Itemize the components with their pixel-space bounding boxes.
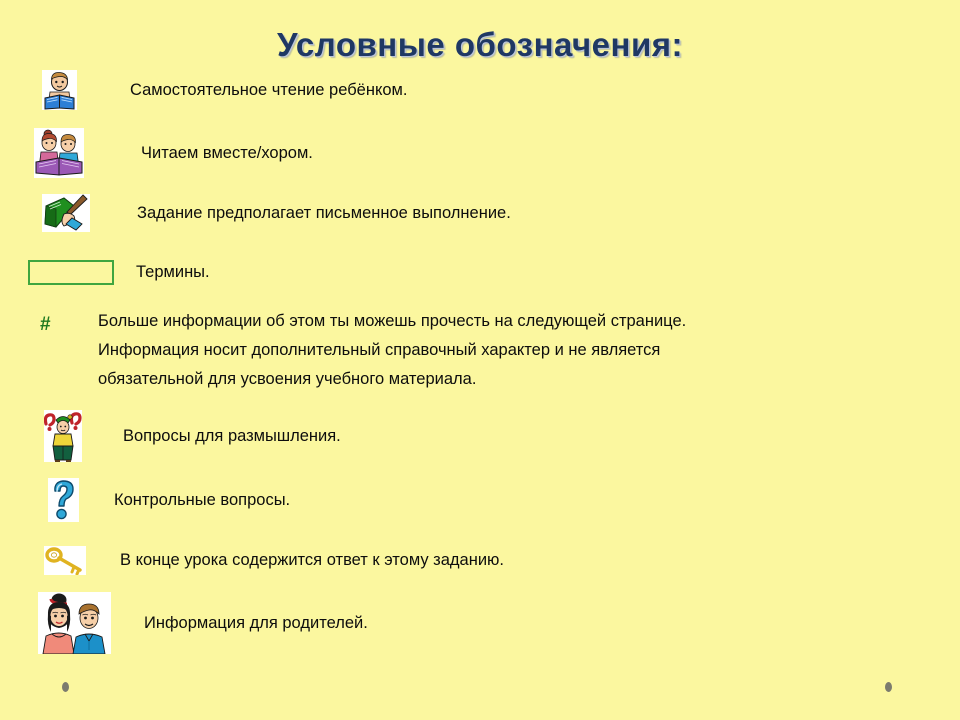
slide-canvas: Условные обозначения: Самостоятельное чт… — [0, 0, 960, 720]
child-reading-book-icon — [42, 70, 77, 110]
boy-with-question-marks-icon — [44, 410, 82, 462]
note-text: Больше информации об этом ты можешь проч… — [98, 312, 686, 389]
legend-row-label: Читаем вместе/хором. — [141, 142, 313, 164]
green-rectangle-box-icon — [28, 260, 114, 285]
notebook-pencil-icon — [42, 194, 90, 232]
legend-row-label: Контрольные вопросы. — [114, 489, 290, 511]
legend-row-written-task: Задание предполагает письменное выполнен… — [42, 194, 511, 232]
legend-row-label: Вопросы для размышления. — [123, 425, 341, 447]
legend-row-self-reading: Самостоятельное чтение ребёнком. — [42, 70, 407, 110]
decorative-dot-right — [885, 682, 892, 692]
parents-couple-icon — [38, 592, 111, 654]
note-line: Больше информации об этом ты можешь проч… — [98, 312, 686, 332]
decorative-dot-left — [62, 682, 69, 692]
legend-row-label: Задание предполагает письменное выполнен… — [137, 202, 511, 224]
legend-row-label: Самостоятельное чтение ребёнком. — [130, 79, 407, 101]
note-line: обязательной для усвоения учебного матер… — [98, 370, 686, 390]
legend-row-read-together: Читаем вместе/хором. — [34, 128, 313, 178]
two-children-reading-icon — [34, 128, 84, 178]
legend-row-label: Термины. — [136, 261, 210, 283]
legend-row-control-questions: Контрольные вопросы. — [48, 478, 290, 522]
blue-question-mark-icon — [48, 478, 79, 522]
page-title: Условные обозначения: — [0, 26, 960, 64]
legend-row-terms: Термины. — [28, 260, 210, 285]
legend-row-label: В конце урока содержится ответ к этому з… — [120, 549, 504, 571]
hash-icon: # — [40, 315, 98, 334]
additional-info-note: # Больше информации об этом ты можешь пр… — [40, 312, 686, 389]
legend-row-parents-info: Информация для родителей. — [38, 592, 368, 654]
note-line: Информация носит дополнительный справочн… — [98, 341, 686, 361]
legend-row-answer-key: В конце урока содержится ответ к этому з… — [44, 546, 504, 575]
legend-row-thinking-questions: Вопросы для размышления. — [44, 410, 341, 462]
golden-key-icon — [44, 546, 86, 575]
legend-row-label: Информация для родителей. — [144, 612, 368, 634]
